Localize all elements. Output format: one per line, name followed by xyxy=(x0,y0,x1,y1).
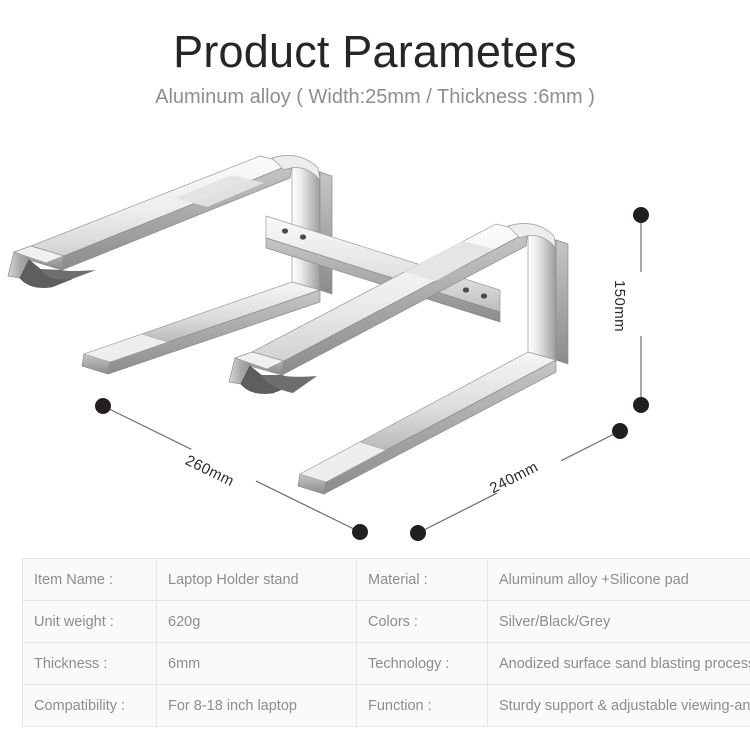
laptop-stand-drawing xyxy=(0,130,750,550)
spec-label: Unit weight : xyxy=(23,601,157,643)
table-row: Item Name : Laptop Holder stand Material… xyxy=(23,559,750,601)
product-illustration xyxy=(0,130,750,550)
table-row: Thickness : 6mm Technology : Anodized su… xyxy=(23,643,750,685)
screw-hole-icon xyxy=(463,287,469,292)
screw-hole-icon xyxy=(282,228,288,233)
table-row: Unit weight : 620g Colors : Silver/Black… xyxy=(23,601,750,643)
table-row: Compatibility : For 8-18 inch laptop Fun… xyxy=(23,685,750,727)
page-title: Product Parameters xyxy=(0,0,750,76)
screw-hole-icon xyxy=(481,293,487,298)
spec-value: Aluminum alloy +Silicone pad xyxy=(488,559,750,601)
spec-value: For 8-18 inch laptop xyxy=(157,685,357,727)
spec-label: Compatibility : xyxy=(23,685,157,727)
screw-hole-icon xyxy=(300,234,306,239)
spec-label: Item Name : xyxy=(23,559,157,601)
spec-label: Thickness : xyxy=(23,643,157,685)
product-parameters-page: Product Parameters Aluminum alloy ( Widt… xyxy=(0,0,750,750)
spec-label: Function : xyxy=(357,685,488,727)
page-subtitle: Aluminum alloy ( Width:25mm / Thickness … xyxy=(0,76,750,109)
spec-value: 6mm xyxy=(157,643,357,685)
spec-value: 620g xyxy=(157,601,357,643)
spec-value: Laptop Holder stand xyxy=(157,559,357,601)
spec-value: Silver/Black/Grey xyxy=(488,601,750,643)
spec-label: Material : xyxy=(357,559,488,601)
spec-label: Technology : xyxy=(357,643,488,685)
spec-value: Anodized surface sand blasting process xyxy=(488,643,750,685)
specification-table: Item Name : Laptop Holder stand Material… xyxy=(22,558,750,727)
spec-label: Colors : xyxy=(357,601,488,643)
header: Product Parameters Aluminum alloy ( Widt… xyxy=(0,0,750,109)
spec-value: Sturdy support & adjustable viewing-angl… xyxy=(488,685,750,727)
